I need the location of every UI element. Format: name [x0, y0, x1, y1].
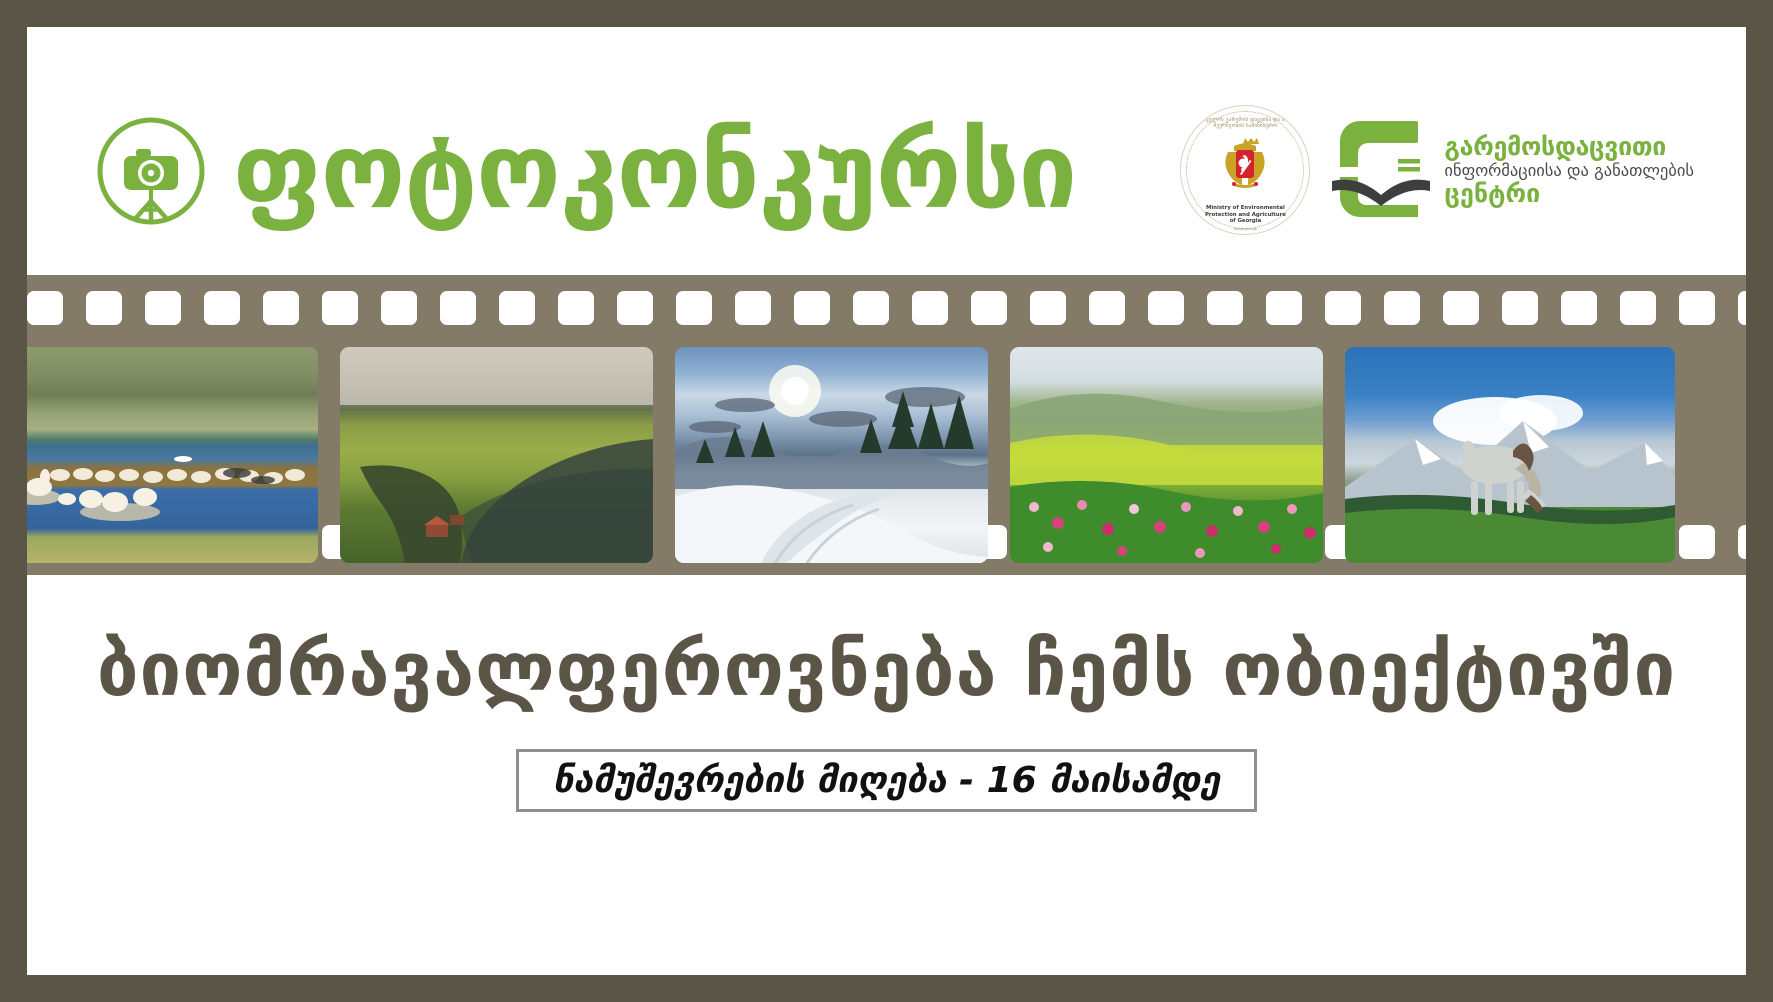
filmstrip-perforation — [381, 291, 417, 325]
photo-snowy-road[interactable] — [675, 347, 988, 563]
filmstrip-perforation — [971, 291, 1007, 325]
filmstrip-perforation — [735, 291, 771, 325]
eiec-book-mark-icon — [1332, 119, 1434, 221]
filmstrip-perforation — [263, 291, 299, 325]
filmstrip-perforation — [1679, 291, 1715, 325]
filmstrip-perforation — [322, 291, 358, 325]
seal-english-text: Ministry of Environmental Protection and… — [1181, 205, 1309, 225]
seal-en-line2: Protection and Agriculture — [1205, 212, 1286, 218]
partner-logos: საქართველოს გარემოს დაცვისა და სოფლის მე… — [1180, 105, 1694, 235]
filmstrip-perforation — [1207, 291, 1243, 325]
seal-url: mepa.gov.ge — [1181, 227, 1309, 231]
seal-en-line3: of Georgia — [1230, 218, 1262, 224]
snowy-road-overlay-icon — [675, 347, 988, 563]
filmstrip-perforations-top — [27, 291, 1746, 325]
deadline-badge: ნამუშევრების მიღება - 16 მაისამდე — [516, 749, 1257, 812]
eiec-line-2: ინფორმაციისა და განათლების — [1444, 163, 1694, 180]
deadline-wrapper: ნამუშევრების მიღება - 16 მაისამდე — [27, 749, 1746, 812]
contest-title: ფოტოკონკურსი — [233, 119, 1076, 223]
filmstrip-perforation — [1384, 291, 1420, 325]
filmstrip-perforation — [86, 291, 122, 325]
filmstrip — [27, 275, 1746, 575]
filmstrip-perforation — [499, 291, 535, 325]
poster-headline: ბიომრავალფეროვნება ჩემს ობიექტივში — [27, 627, 1746, 713]
filmstrip-perforation — [912, 291, 948, 325]
flower-meadow-overlay-icon — [1010, 347, 1323, 563]
seal-arc-text: საქართველოს გარემოს დაცვისა და სოფლის მე… — [1181, 117, 1309, 129]
eiec-logo: გარემოსდაცვითი ინფორმაციისა და განათლები… — [1332, 119, 1694, 221]
filmstrip-perforation — [1620, 291, 1656, 325]
filmstrip-perforation — [1502, 291, 1538, 325]
filmstrip-perforation — [1443, 291, 1479, 325]
filmstrip-perforation — [1738, 291, 1746, 325]
filmstrip-frames — [27, 347, 1746, 563]
filmstrip-perforation — [1148, 291, 1184, 325]
photo-horse-mountain[interactable] — [1345, 347, 1675, 563]
eiec-line-3: ცენტრი — [1444, 181, 1694, 206]
filmstrip-perforation — [204, 291, 240, 325]
filmstrip-perforation — [1325, 291, 1361, 325]
eiec-logo-text: გარემოსდაცვითი ინფორმაციისა და განათლები… — [1444, 134, 1694, 207]
brand-block: ფოტოკონკურსი — [95, 115, 1076, 227]
filmstrip-perforation — [676, 291, 712, 325]
filmstrip-perforation — [794, 291, 830, 325]
filmstrip-perforation — [440, 291, 476, 325]
filmstrip-perforation — [1561, 291, 1597, 325]
eiec-line-1: გარემოსდაცვითი — [1444, 134, 1694, 159]
poster-panel: ფოტოკონკურსი საქართველოს გარემოს დაცვისა… — [27, 27, 1746, 975]
filmstrip-perforation — [1030, 291, 1066, 325]
horse-mountain-overlay-icon — [1345, 347, 1675, 563]
seal-en-line1: Ministry of Environmental — [1206, 205, 1285, 211]
camera-tripod-logo-icon — [95, 115, 207, 227]
photo-wetland-river[interactable] — [340, 347, 653, 563]
photo-flower-meadow[interactable] — [1010, 347, 1323, 563]
photo-pelicans-lake[interactable] — [27, 347, 318, 563]
filmstrip-perforation — [617, 291, 653, 325]
filmstrip-perforation — [1089, 291, 1125, 325]
filmstrip-perforation — [27, 291, 63, 325]
filmstrip-perforation — [853, 291, 889, 325]
filmstrip-perforation — [145, 291, 181, 325]
pelicans-overlay-icon — [27, 347, 318, 563]
georgia-coat-of-arms-icon — [1214, 136, 1276, 196]
wetland-river-overlay-icon — [340, 347, 653, 563]
ministry-seal-logo: საქართველოს გარემოს დაცვისა და სოფლის მე… — [1180, 105, 1310, 235]
filmstrip-perforation — [1266, 291, 1302, 325]
filmstrip-perforation — [558, 291, 594, 325]
